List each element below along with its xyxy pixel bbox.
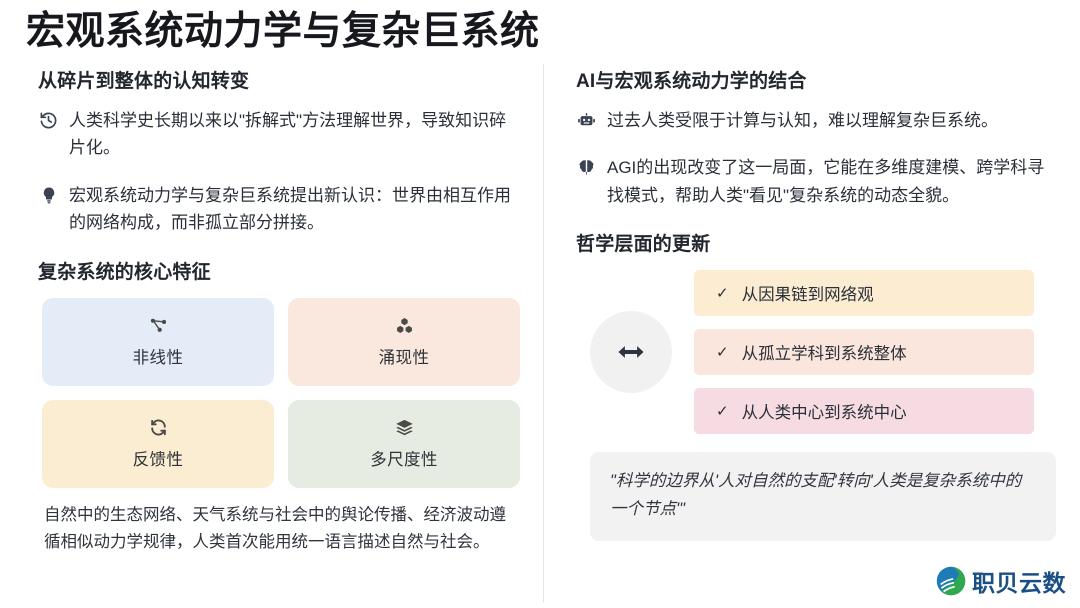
feature-card-grid: 非线性 涌现性 — [42, 298, 521, 488]
lightbulb-icon — [38, 185, 59, 206]
right-heading-ai-combination: AI与宏观系统动力学的结合 — [576, 66, 1056, 93]
left-bullet-2-text: 宏观系统动力学与复杂巨系统提出新认识：世界由相互作用的网络构成，而非孤立部分拼接… — [69, 182, 521, 237]
left-bullet-1: 人类科学史长期以来以"拆解式"方法理解世界，导致知识碎片化。 — [38, 107, 521, 162]
right-bullet-1-text: 过去人类受限于计算与认知，难以理解复杂巨系统。 — [607, 107, 998, 135]
feature-card-label: 涌现性 — [379, 344, 430, 368]
check-icon: ✓ — [716, 345, 729, 360]
philosophy-item-label: 从因果链到网络观 — [742, 281, 874, 305]
feature-card-nonlinearity[interactable]: 非线性 — [42, 298, 274, 386]
left-heading-cognitive-shift: 从碎片到整体的认知转变 — [38, 66, 521, 93]
feature-card-feedback[interactable]: 反馈性 — [42, 400, 274, 488]
right-column: AI与宏观系统动力学的结合 过去人类受限于计算与认知，难以理解复杂巨系统。 — [544, 60, 1056, 608]
feature-card-multiscale[interactable]: 多尺度性 — [288, 400, 520, 488]
network-node-icon — [149, 316, 168, 335]
philosophy-item-list: ✓ 从因果链到网络观 ✓ 从孤立学科到系统整体 ✓ 从人类中心到系统中心 — [694, 270, 1056, 434]
left-note-text: 自然中的生态网络、天气系统与社会中的舆论传播、经济波动遵循相似动力学规律，人类首… — [44, 502, 521, 555]
left-bullet-2: 宏观系统动力学与复杂巨系统提出新认识：世界由相互作用的网络构成，而非孤立部分拼接… — [38, 182, 521, 237]
right-heading-philosophy-update: 哲学层面的更新 — [576, 229, 1056, 256]
feature-card-label: 多尺度性 — [370, 446, 438, 470]
arrows-left-right-icon — [590, 311, 672, 393]
layers-icon — [395, 418, 414, 437]
quote-text: "科学的边界从'人对自然的支配'转向'人类是复杂系统中的一个节点'" — [610, 468, 1036, 523]
philosophy-item-label: 从孤立学科到系统整体 — [742, 340, 907, 364]
right-bullet-1: 过去人类受限于计算与认知，难以理解复杂巨系统。 — [576, 107, 1056, 135]
philosophy-item-2[interactable]: ✓ 从孤立学科到系统整体 — [694, 329, 1034, 375]
check-icon: ✓ — [716, 404, 729, 419]
philosophy-item-3[interactable]: ✓ 从人类中心到系统中心 — [694, 388, 1034, 434]
two-column-body: 从碎片到整体的认知转变 人类科学史长期以来以"拆解式"方法理解世界，导致知识碎片… — [24, 60, 1056, 608]
feature-card-label: 非线性 — [133, 344, 184, 368]
wave-logo-icon — [936, 566, 966, 596]
watermark-text: 职贝云数 — [972, 564, 1066, 598]
robot-icon — [576, 110, 597, 131]
philosophy-item-1[interactable]: ✓ 从因果链到网络观 — [694, 270, 1034, 316]
cubes-icon — [395, 316, 414, 335]
page-title: 宏观系统动力学与复杂巨系统 — [26, 10, 1056, 54]
left-heading-core-features: 复杂系统的核心特征 — [38, 257, 521, 284]
right-bullet-2: AGI的出现改变了这一局面，它能在多维度建模、跨学科寻找模式，帮助人类"看见"复… — [576, 154, 1056, 209]
feature-card-emergence[interactable]: 涌现性 — [288, 298, 520, 386]
left-bullet-1-text: 人类科学史长期以来以"拆解式"方法理解世界，导致知识碎片化。 — [69, 107, 521, 162]
right-bullet-2-text: AGI的出现改变了这一局面，它能在多维度建模、跨学科寻找模式，帮助人类"看见"复… — [607, 154, 1056, 209]
philosophy-item-label: 从人类中心到系统中心 — [742, 399, 907, 423]
check-icon: ✓ — [716, 286, 729, 301]
refresh-cycle-icon — [149, 418, 168, 437]
quote-box: "科学的边界从'人对自然的支配'转向'人类是复杂系统中的一个节点'" — [590, 452, 1056, 541]
feature-card-label: 反馈性 — [133, 446, 184, 470]
history-clock-icon — [38, 110, 59, 131]
left-column: 从碎片到整体的认知转变 人类科学史长期以来以"拆解式"方法理解世界，导致知识碎片… — [24, 60, 543, 608]
brain-icon — [576, 157, 597, 178]
slide-root: 宏观系统动力学与复杂巨系统 从碎片到整体的认知转变 人类科学史长期以来以"拆解式… — [0, 0, 1080, 608]
philosophy-row: ✓ 从因果链到网络观 ✓ 从孤立学科到系统整体 ✓ 从人类中心到系统中心 — [590, 270, 1056, 434]
watermark: 职贝云数 — [936, 564, 1066, 598]
